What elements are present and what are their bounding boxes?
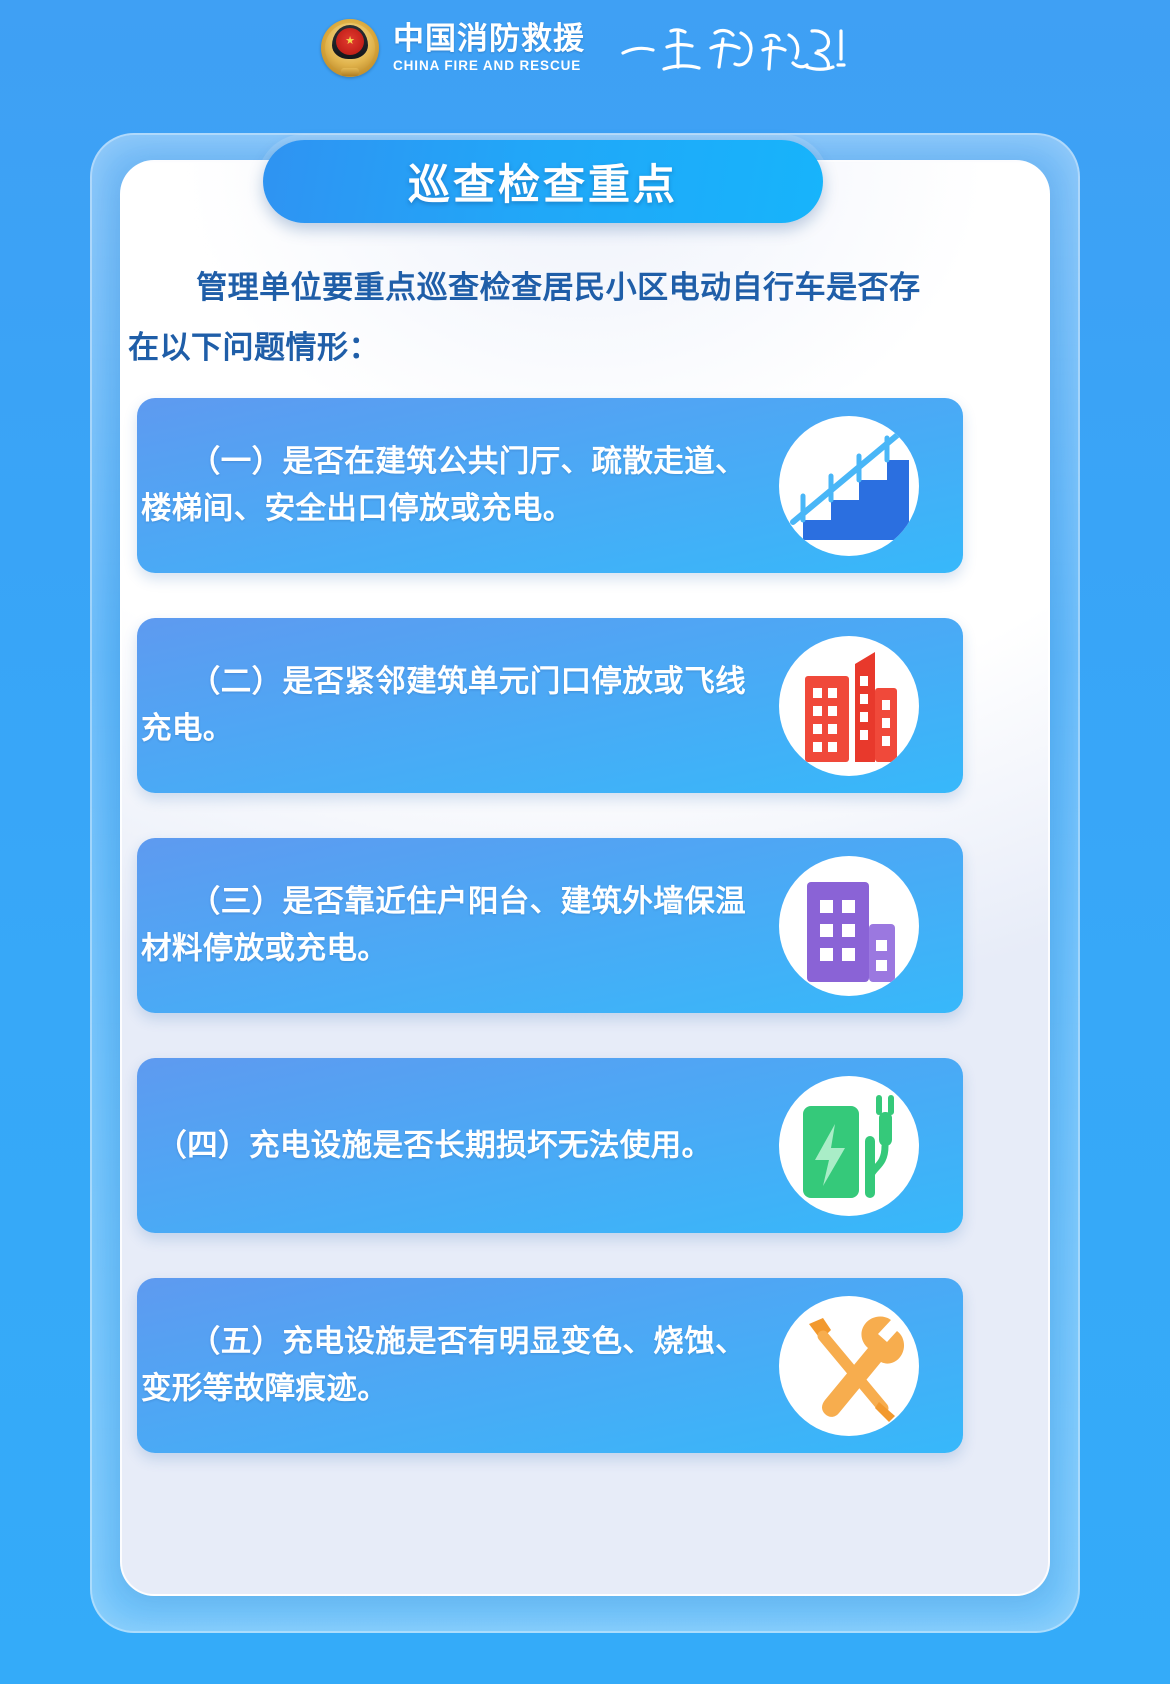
- page-title: 巡查检查重点: [408, 151, 678, 212]
- red-buildings-icon: [779, 636, 919, 776]
- checklist-item-1: （一）是否在建筑公共门厅、疏散走道、楼梯间、安全出口停放或充电。: [137, 398, 963, 573]
- checklist-item-2: （二）是否紧邻建筑单元门口停放或飞线充电。: [137, 618, 963, 793]
- checklist-item-3: （三）是否靠近住户阳台、建筑外墙保温材料停放或充电。: [137, 838, 963, 1013]
- purple-buildings-icon: [779, 856, 919, 996]
- page-title-pill: 巡查检查重点: [263, 140, 823, 223]
- page-header: ★ 中国消防救援 CHINA FIRE AND RESCUE: [0, 0, 1170, 96]
- intro-paragraph: 管理单位要重点巡查检查居民小区电动自行车是否存在以下问题情形：: [128, 258, 952, 379]
- checklist-item-5-text: （五）充电设施是否有明显变色、烧蚀、变形等故障痕迹。: [137, 1318, 757, 1413]
- checklist-item-4: （四）充电设施是否长期损坏无法使用。: [137, 1058, 963, 1233]
- checklist-item-5: （五）充电设施是否有明显变色、烧蚀、变形等故障痕迹。: [137, 1278, 963, 1453]
- wrench-screwdriver-icon: [779, 1296, 919, 1436]
- checklist-item-3-text: （三）是否靠近住户阳台、建筑外墙保温材料停放或充电。: [137, 878, 757, 973]
- brand-name-en: CHINA FIRE AND RESCUE: [393, 59, 585, 73]
- checklist-item-1-text: （一）是否在建筑公共门厅、疏散走道、楼梯间、安全出口停放或充电。: [137, 438, 757, 533]
- checklist-item-2-text: （二）是否紧邻建筑单元门口停放或飞线充电。: [137, 658, 757, 753]
- charging-station-icon: [779, 1076, 919, 1216]
- slogan-handwriting: [619, 13, 849, 83]
- checklist-item-4-text: （四）充电设施是否长期损坏无法使用。: [137, 1122, 757, 1169]
- checklist-card-group: （一）是否在建筑公共门厅、疏散走道、楼梯间、安全出口停放或充电。 （二）是否紧邻…: [137, 398, 963, 1498]
- stairs-icon: [779, 416, 919, 556]
- brand-block: 中国消防救援 CHINA FIRE AND RESCUE: [393, 23, 585, 72]
- china-fire-rescue-emblem-icon: ★: [321, 19, 379, 77]
- brand-name-cn: 中国消防救援: [393, 23, 585, 56]
